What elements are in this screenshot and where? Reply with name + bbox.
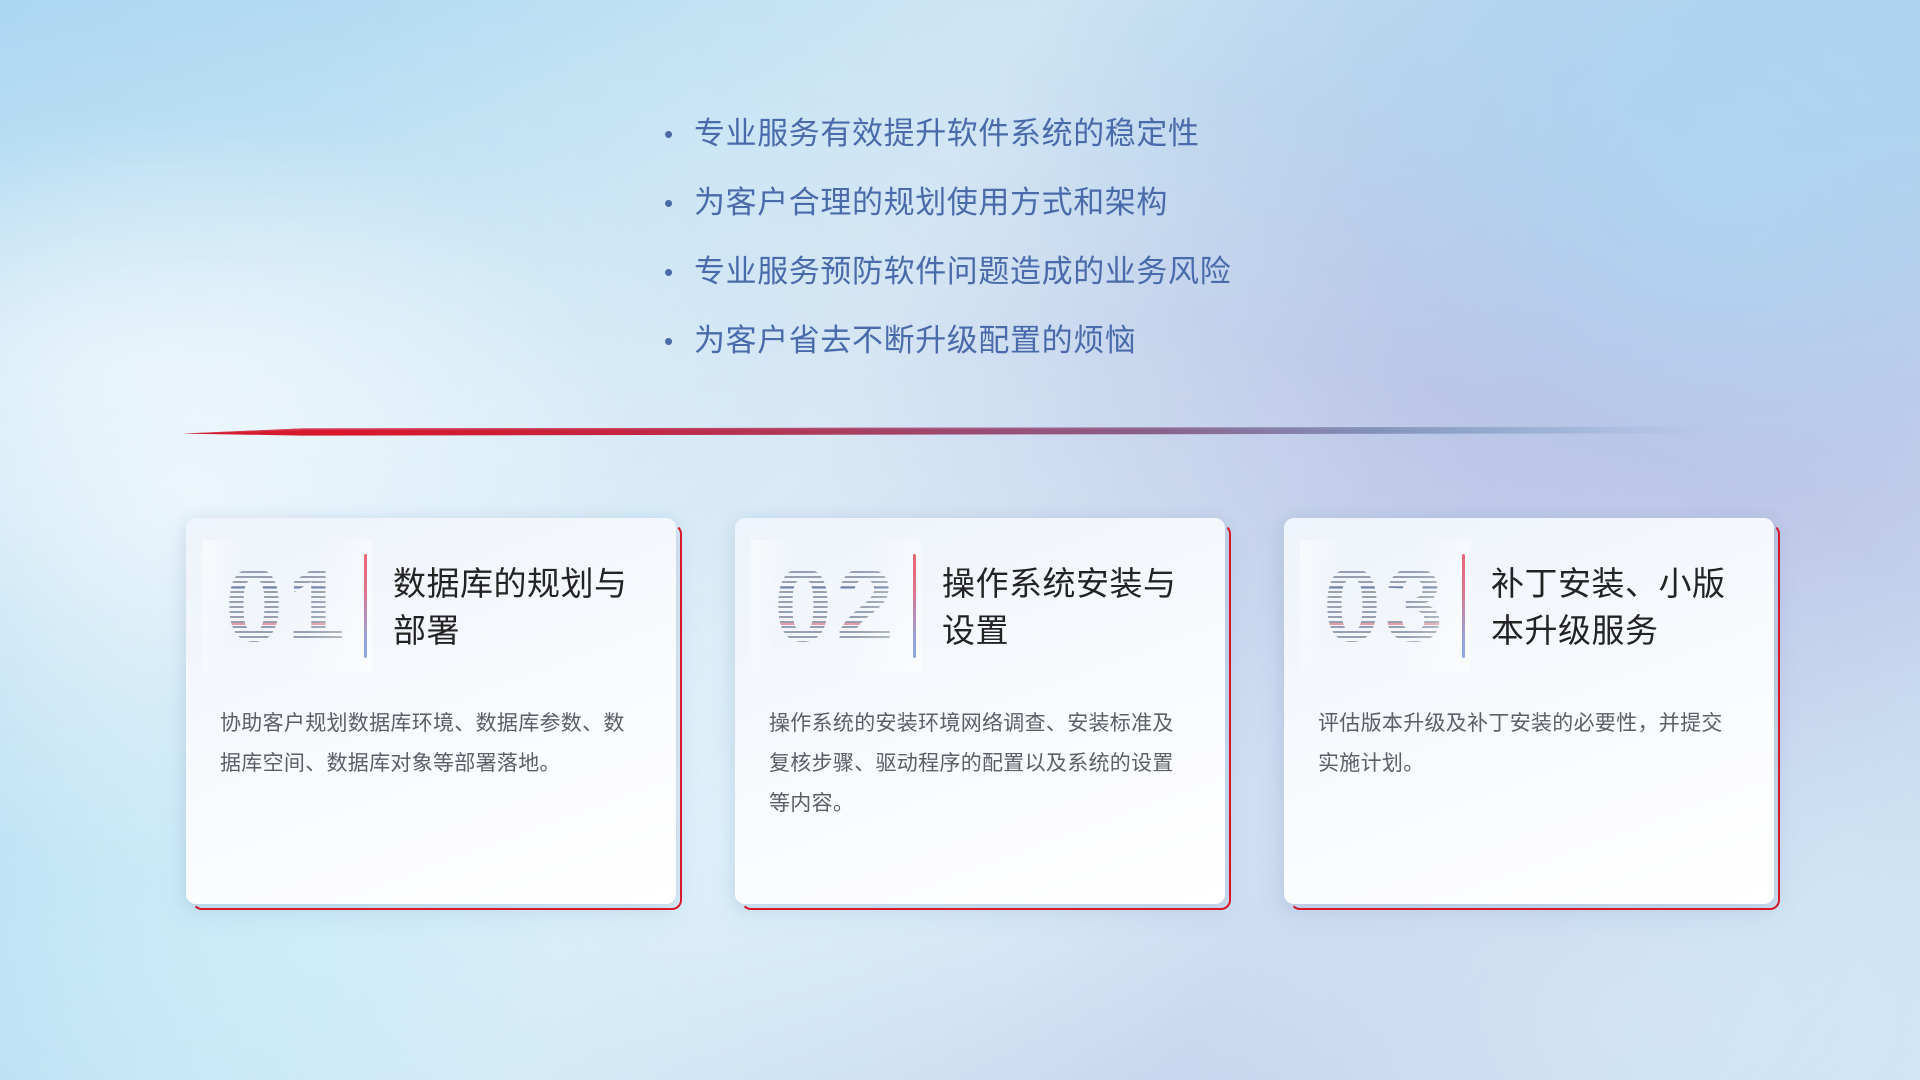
bullet-text: 专业服务预防软件问题造成的业务风险 (694, 250, 1231, 294)
list-item: • 专业服务预防软件问题造成的业务风险 (660, 250, 1560, 294)
bullet-text: 专业服务有效提升软件系统的稳定性 (694, 112, 1200, 156)
bullet-text: 为客户省去不断升级配置的烦恼 (694, 319, 1136, 363)
bullet-point-icon: • (660, 250, 694, 294)
bullet-point-icon: • (660, 319, 694, 363)
card-number-tint: 03 (1310, 546, 1460, 666)
card-description: 协助客户规划数据库环境、数据库参数、数据库空间、数据库对象等部署落地。 (186, 694, 676, 784)
card-number-badge: 01 01 (212, 546, 362, 666)
card-number-tint: 01 (212, 546, 362, 666)
card-header: 02 02 操作系统安装与设置 (735, 518, 1225, 694)
benefits-bullet-list: • 专业服务有效提升软件系统的稳定性 • 为客户合理的规划使用方式和架构 • 专… (660, 112, 1560, 388)
service-card[interactable]: 02 02 操作系统安装与设置 操作系统的安装环境网络调查、安装标准及复核步骤、… (735, 518, 1225, 904)
service-card[interactable]: 01 01 数据库的规划与部署 协助客户规划数据库环境、数据库参数、数据库空间、… (186, 518, 676, 904)
slide-canvas: • 专业服务有效提升软件系统的稳定性 • 为客户合理的规划使用方式和架构 • 专… (0, 0, 1920, 1080)
card-title: 操作系统安装与设置 (942, 558, 1195, 654)
card-description: 操作系统的安装环境网络调查、安装标准及复核步骤、驱动程序的配置以及系统的设置等内… (735, 694, 1225, 824)
card-title: 数据库的规划与部署 (393, 558, 646, 654)
card-header: 01 01 数据库的规划与部署 (186, 518, 676, 694)
card-accent-rule (1462, 554, 1465, 658)
card-number-badge: 03 03 (1310, 546, 1460, 666)
card-description: 评估版本升级及补丁安装的必要性，并提交实施计划。 (1284, 694, 1774, 784)
list-item: • 为客户省去不断升级配置的烦恼 (660, 319, 1560, 363)
card-number-badge: 02 02 (761, 546, 911, 666)
list-item: • 专业服务有效提升软件系统的稳定性 (660, 112, 1560, 156)
card-title: 补丁安装、小版本升级服务 (1491, 558, 1744, 654)
bullet-point-icon: • (660, 181, 694, 225)
section-divider (182, 424, 1752, 440)
card-header: 03 03 补丁安装、小版本升级服务 (1284, 518, 1774, 694)
card-number-tint: 02 (761, 546, 911, 666)
service-card[interactable]: 03 03 补丁安装、小版本升级服务 评估版本升级及补丁安装的必要性，并提交实施… (1284, 518, 1774, 904)
bullet-text: 为客户合理的规划使用方式和架构 (694, 181, 1168, 225)
card-accent-rule (913, 554, 916, 658)
card-accent-rule (364, 554, 367, 658)
list-item: • 为客户合理的规划使用方式和架构 (660, 181, 1560, 225)
bullet-point-icon: • (660, 112, 694, 156)
